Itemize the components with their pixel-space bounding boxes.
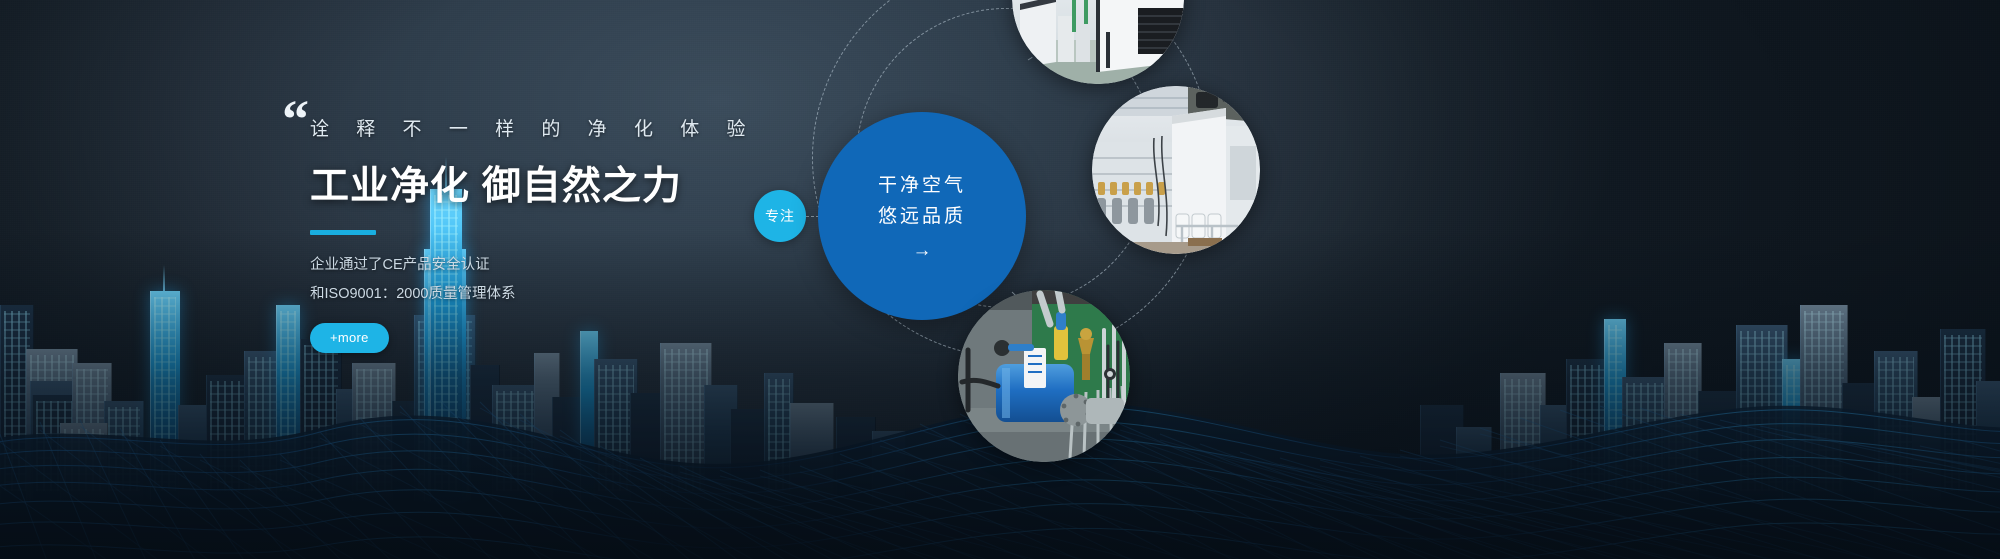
antenna	[163, 265, 165, 291]
photo-production-line-machinery[interactable]	[1092, 86, 1260, 254]
focus-badge[interactable]: 专注	[754, 190, 806, 242]
more-button[interactable]: +more	[310, 323, 389, 353]
concept-line-1: 干净空气	[878, 170, 966, 201]
quote-mark-icon: “	[282, 92, 307, 146]
concept-diagram: 专注 干净空气 悠远品质 →	[760, 0, 1480, 559]
main-concept-circle[interactable]: 干净空气 悠远品质 →	[818, 112, 1026, 320]
arrow-right-icon: →	[913, 240, 932, 262]
hero-banner: “ 诠 释 不 一 样 的 净 化 体 验 工业净化 御自然之力 企业通过了CE…	[0, 0, 2000, 559]
focus-badge-label: 专注	[765, 206, 795, 226]
photo-blue-pressure-vessel-piping[interactable]	[958, 290, 1130, 462]
accent-divider	[310, 230, 376, 235]
concept-line-2: 悠远品质	[878, 201, 966, 232]
